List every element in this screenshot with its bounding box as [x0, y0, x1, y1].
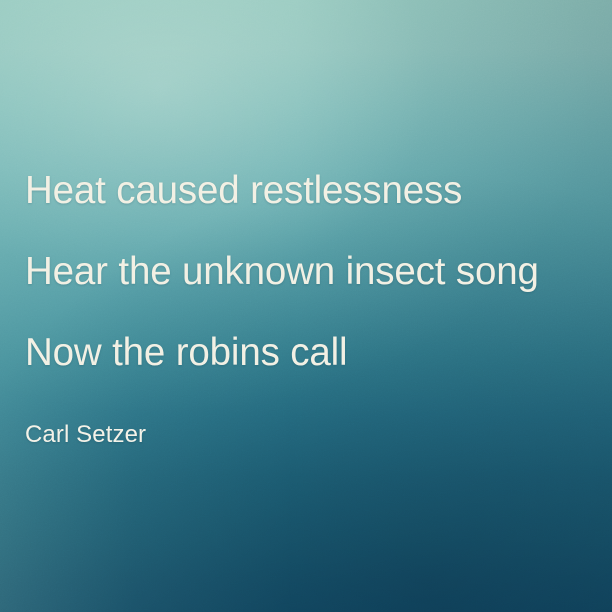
poem-line-2: Hear the unknown insect song — [25, 253, 539, 292]
poem-text-block: Heat caused restlessness Hear the unknow… — [25, 0, 598, 612]
poem-line-1: Heat caused restlessness — [25, 172, 462, 211]
poem-author-byline: Carl Setzer — [25, 423, 146, 447]
poem-image-card: Heat caused restlessness Hear the unknow… — [0, 0, 612, 612]
poem-line-3: Now the robins call — [25, 334, 347, 373]
